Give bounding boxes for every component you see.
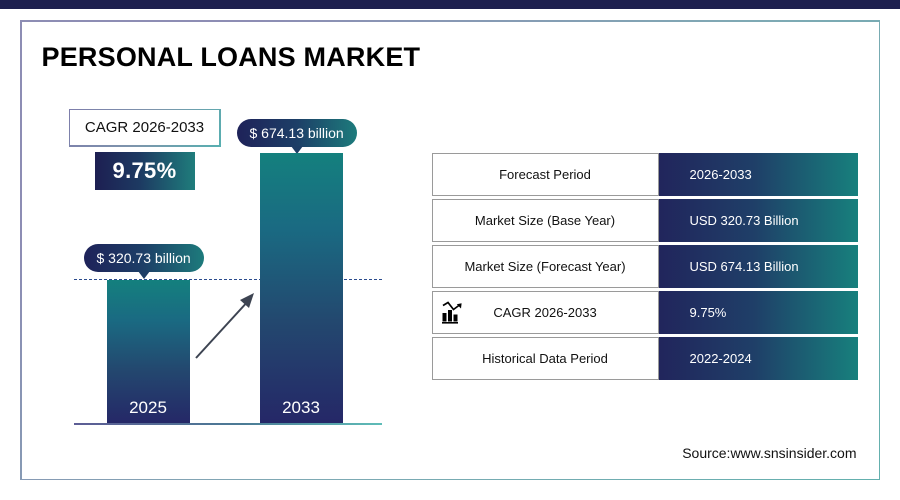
chart-axis-line [74,423,382,425]
top-accent-band [0,0,900,9]
table-row-value: USD 674.13 Billion [690,259,799,274]
table-row-value-cell: 2026-2033 [659,153,858,196]
table-row: Forecast Period 2026-2033 [432,153,858,196]
table-row: Market Size (Base Year) USD 320.73 Billi… [432,199,858,242]
table-row: CAGR 2026-2033 9.75% [432,291,858,334]
table-row-label: Historical Data Period [433,351,658,366]
table-row-label: Market Size (Base Year) [433,213,658,228]
table-row-value: USD 320.73 Billion [690,213,799,228]
table-row-label-cell: Forecast Period [432,153,659,196]
bar-value-label-2025-text: $ 320.73 billion [97,250,191,266]
table-row-label: Forecast Period [433,167,658,182]
table-row-value-cell: USD 320.73 Billion [659,199,858,242]
table-row-label-cell: Market Size (Base Year) [432,199,659,242]
table-row-label-cell: Market Size (Forecast Year) [432,245,659,288]
bar-chart: $ 674.13 billion $ 320.73 billion 2025 2… [22,22,442,462]
bar-value-label-2033-text: $ 674.13 billion [250,125,344,141]
growth-arrow-icon [192,287,262,362]
table-row-label-cell: Historical Data Period [432,337,659,380]
bar-value-label-2025: $ 320.73 billion [84,244,204,272]
bar-2033: 2033 [260,153,343,424]
table-row-value-cell: USD 674.13 Billion [659,245,858,288]
table-row-value-cell: 9.75% [659,291,858,334]
bar-2033-year-label: 2033 [260,398,343,418]
market-info-table: Forecast Period 2026-2033 Market Size (B… [432,153,858,383]
table-row-label: CAGR 2026-2033 [433,305,658,320]
bar-2025-year-label: 2025 [107,398,190,418]
table-row-label: Market Size (Forecast Year) [433,259,658,274]
bar-chart-icon [440,299,466,325]
table-row-value: 9.75% [690,305,727,320]
table-row-value-cell: 2022-2024 [659,337,858,380]
table-row-label-cell: CAGR 2026-2033 [432,291,659,334]
infographic-canvas: PERSONAL LOANS MARKET CAGR 2026-2033 9.7… [22,22,879,479]
infographic-frame: PERSONAL LOANS MARKET CAGR 2026-2033 9.7… [20,20,880,480]
table-row-value: 2026-2033 [690,167,752,182]
table-row-value: 2022-2024 [690,351,752,366]
table-row: Market Size (Forecast Year) USD 674.13 B… [432,245,858,288]
source-attribution: Source:www.snsinsider.com [682,445,856,461]
bar-2025: 2025 [107,280,190,424]
table-row: Historical Data Period 2022-2024 [432,337,858,380]
bar-value-label-2033: $ 674.13 billion [237,119,357,147]
